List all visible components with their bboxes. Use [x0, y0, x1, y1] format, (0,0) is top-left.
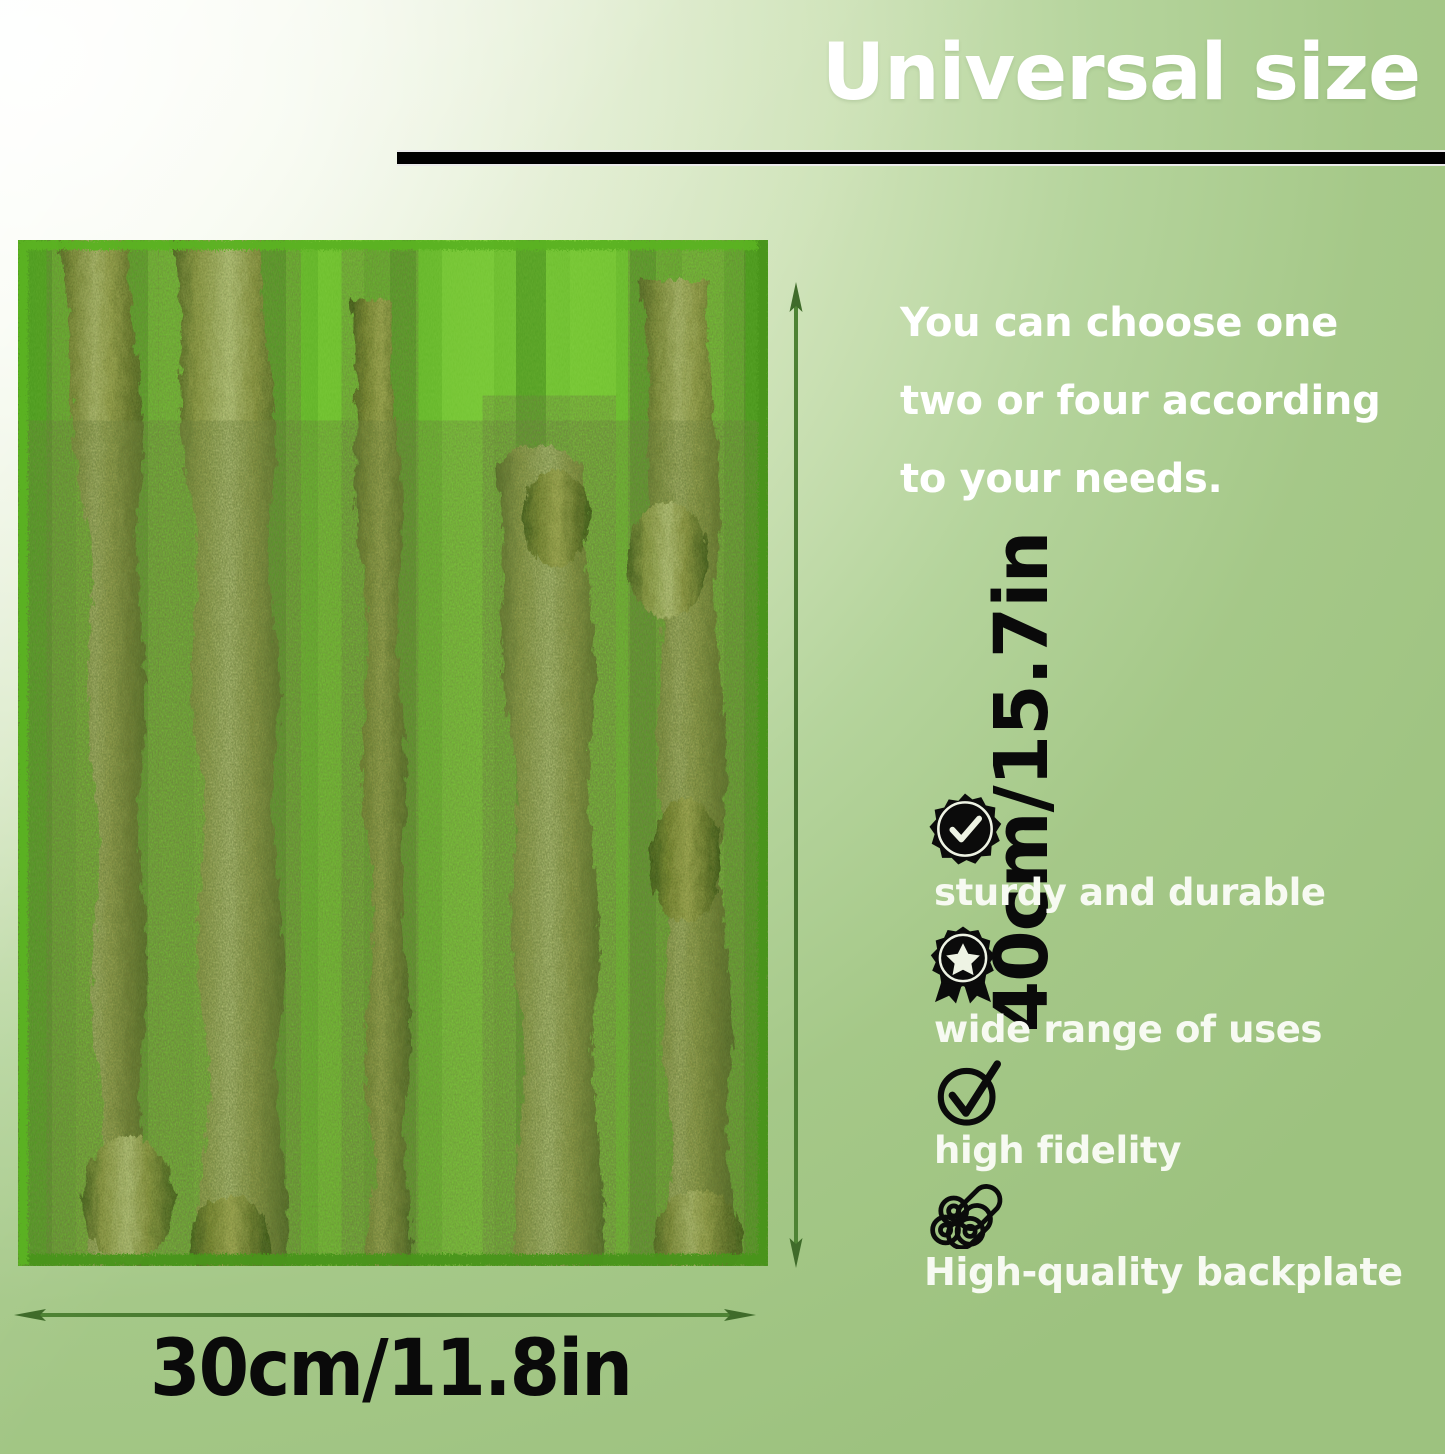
circle-check-icon	[934, 1060, 1002, 1128]
feature-item-backplate: High-quality backplate	[920, 1181, 1445, 1293]
badge-check-icon	[928, 792, 1002, 866]
height-dimension-arrow	[789, 282, 803, 1268]
stacked-logs-icon	[930, 1181, 1006, 1249]
description-line-1: You can choose one	[900, 284, 1420, 362]
description-line-3: to your needs.	[900, 440, 1420, 518]
product-image-moss-panel	[18, 240, 768, 1266]
infographic-poster: Universal size	[0, 0, 1445, 1454]
feature-label-high-fidelity: high fidelity	[934, 1132, 1445, 1171]
description-line-2: two or four according	[900, 362, 1420, 440]
page-title: Universal size	[700, 34, 1420, 112]
feature-item-sturdy: sturdy and durable	[920, 792, 1445, 913]
description-block: You can choose one two or four according…	[900, 284, 1420, 518]
feature-label-sturdy: sturdy and durable	[934, 874, 1445, 913]
award-ribbon-icon	[928, 925, 998, 1005]
title-divider-rule	[397, 150, 1445, 166]
feature-item-wide-range: wide range of uses	[920, 925, 1445, 1050]
feature-list: sturdy and durable wide range of uses	[920, 792, 1445, 1292]
feature-label-wide-range: wide range of uses	[934, 1011, 1445, 1050]
width-dimension-label: 30cm/11.8in	[150, 1330, 631, 1408]
feature-item-high-fidelity: high fidelity	[920, 1060, 1445, 1171]
feature-label-backplate: High-quality backplate	[924, 1253, 1445, 1293]
